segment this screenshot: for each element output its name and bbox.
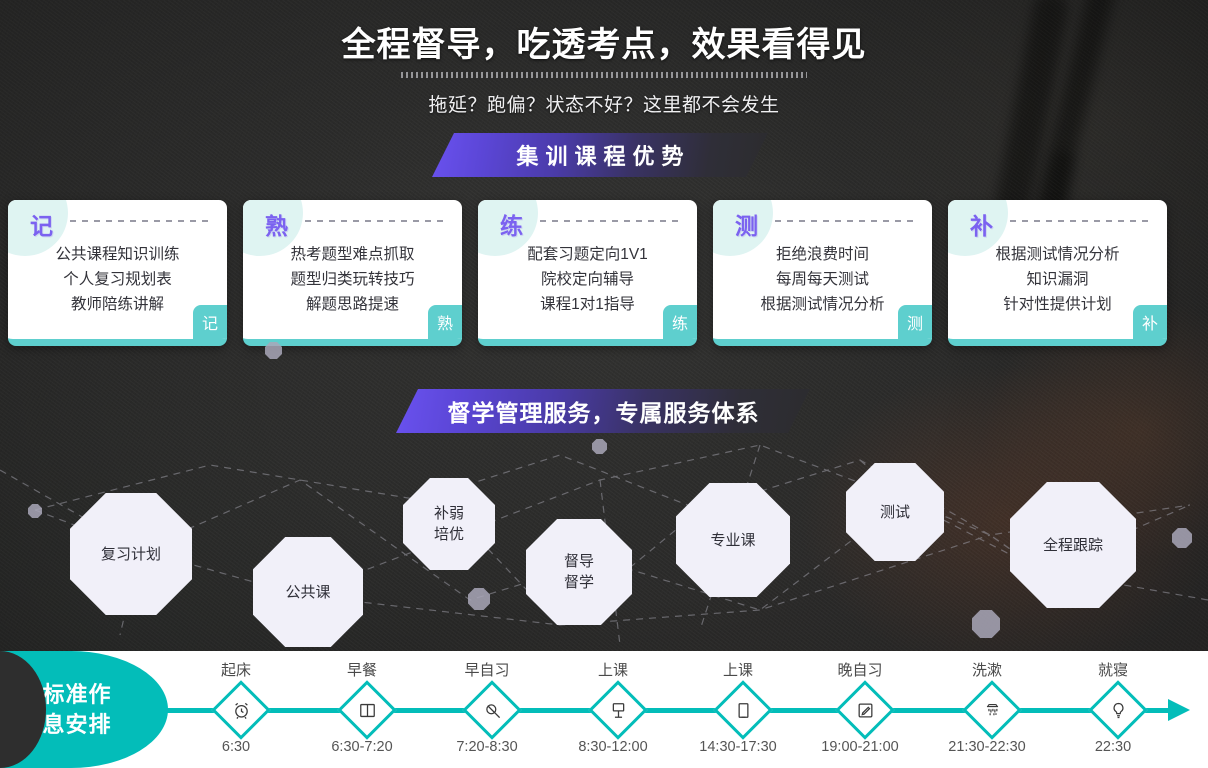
write-icon bbox=[844, 689, 886, 731]
timeline-item-time: 14:30-17:30 bbox=[668, 739, 808, 755]
network-node bbox=[265, 342, 282, 359]
service-octagon[interactable]: 公共课 bbox=[253, 537, 363, 647]
service-octagon-label: 公共课 bbox=[285, 582, 330, 603]
card-header: 测 bbox=[713, 200, 932, 240]
timeline-item-name: 早自习 bbox=[427, 659, 547, 680]
book-icon bbox=[346, 689, 388, 731]
service-octagon-label: 专业课 bbox=[710, 530, 755, 551]
timeline-item-time: 6:30 bbox=[166, 739, 306, 755]
card-body: 配套习题定向1V1院校定向辅导课程1对1指导 bbox=[478, 240, 697, 317]
advantage-card-list: 记公共课程知识训练个人复习规划表教师陪练讲解记熟热考题型难点抓取题型归类玩转技巧… bbox=[0, 200, 1208, 346]
card-body: 公共课程知识训练个人复习规划表教师陪练讲解 bbox=[8, 240, 227, 317]
card-dashed-divider bbox=[305, 220, 446, 222]
service-network-diagram: 复习计划公共课补弱培优督导督学专业课测试全程跟踪 bbox=[0, 440, 1208, 650]
card-dashed-divider bbox=[70, 220, 211, 222]
card-corner-badge: 熟 bbox=[428, 305, 462, 339]
lectern-icon bbox=[597, 689, 639, 731]
card-body: 热考题型难点抓取题型归类玩转技巧解题思路提速 bbox=[243, 240, 462, 317]
card-line: 知识漏洞 bbox=[948, 267, 1167, 292]
service-octagon-label: 全程跟踪 bbox=[1043, 535, 1103, 556]
timeline-item-time: 7:20-8:30 bbox=[417, 739, 557, 755]
timeline-item-time: 6:30-7:20 bbox=[292, 739, 432, 755]
card-body: 根据测试情况分析知识漏洞针对性提供计划 bbox=[948, 240, 1167, 317]
card-keyword: 测 bbox=[735, 207, 758, 241]
section-heading-services: 督学管理服务，专属服务体系 bbox=[396, 389, 810, 433]
network-node bbox=[468, 588, 490, 610]
service-octagon[interactable]: 全程跟踪 bbox=[1010, 482, 1136, 608]
card-line: 拒绝浪费时间 bbox=[713, 242, 932, 267]
card-line: 个人复习规划表 bbox=[8, 267, 227, 292]
card-header: 熟 bbox=[243, 200, 462, 240]
card-line: 热考题型难点抓取 bbox=[243, 242, 462, 267]
service-octagon[interactable]: 专业课 bbox=[676, 483, 790, 597]
timeline-label-line-1: 标准作 bbox=[42, 680, 111, 710]
advantage-card[interactable]: 熟热考题型难点抓取题型归类玩转技巧解题思路提速熟 bbox=[243, 200, 462, 346]
timeline-item-time: 22:30 bbox=[1043, 739, 1183, 755]
shower-icon bbox=[971, 689, 1013, 731]
timeline-label-line-2: 息安排 bbox=[42, 710, 111, 740]
card-header: 练 bbox=[478, 200, 697, 240]
service-octagon-label: 督导 bbox=[564, 551, 594, 572]
card-corner-badge: 补 bbox=[1133, 305, 1167, 339]
card-dashed-divider bbox=[540, 220, 681, 222]
timeline-item-name: 起床 bbox=[176, 659, 296, 680]
service-octagon-label: 培优 bbox=[434, 524, 464, 545]
card-corner-badge: 测 bbox=[898, 305, 932, 339]
card-line: 院校定向辅导 bbox=[478, 267, 697, 292]
service-octagon-label: 复习计划 bbox=[101, 544, 161, 565]
card-keyword: 记 bbox=[30, 207, 53, 241]
timeline-item-time: 8:30-12:00 bbox=[543, 739, 683, 755]
page-title: 全程督导，吃透考点，效果看得见 bbox=[0, 17, 1208, 66]
advantage-card[interactable]: 记公共课程知识训练个人复习规划表教师陪练讲解记 bbox=[8, 200, 227, 346]
card-header: 记 bbox=[8, 200, 227, 240]
notebook-icon bbox=[722, 689, 764, 731]
section-heading-advantages: 集训课程优势 bbox=[432, 133, 768, 177]
advantage-card[interactable]: 测拒绝浪费时间每周每天测试根据测试情况分析测 bbox=[713, 200, 932, 346]
timeline-item-name: 上课 bbox=[678, 659, 798, 680]
network-node bbox=[1172, 528, 1192, 548]
timeline-item-name: 早餐 bbox=[302, 659, 422, 680]
card-line: 根据测试情况分析 bbox=[948, 242, 1167, 267]
card-body: 拒绝浪费时间每周每天测试根据测试情况分析 bbox=[713, 240, 932, 317]
timeline-item-time: 19:00-21:00 bbox=[790, 739, 930, 755]
page-subtitle: 拖延？跑偏？状态不好？这里都不会发生 bbox=[0, 90, 1208, 117]
timeline-arrow-icon bbox=[1168, 699, 1190, 721]
card-keyword: 补 bbox=[970, 207, 993, 241]
card-line: 题型归类玩转技巧 bbox=[243, 267, 462, 292]
card-corner-badge: 练 bbox=[663, 305, 697, 339]
service-octagon-label: 督学 bbox=[564, 572, 594, 593]
advantage-card[interactable]: 练配套习题定向1V1院校定向辅导课程1对1指导练 bbox=[478, 200, 697, 346]
card-line: 配套习题定向1V1 bbox=[478, 242, 697, 267]
card-keyword: 练 bbox=[500, 207, 523, 241]
timeline-item-name: 上课 bbox=[553, 659, 673, 680]
service-octagon[interactable]: 测试 bbox=[846, 463, 944, 561]
card-dashed-divider bbox=[1010, 220, 1151, 222]
network-node bbox=[28, 504, 42, 518]
hero-section: 全程督导，吃透考点，效果看得见 拖延？跑偏？状态不好？这里都不会发生 bbox=[0, 0, 1208, 117]
card-keyword: 熟 bbox=[265, 207, 288, 241]
daily-schedule-timeline: 标准作 息安排 起床6:30早餐6:30-7:20早自习7:20-8:30上课8… bbox=[0, 651, 1208, 768]
service-octagon[interactable]: 督导督学 bbox=[526, 519, 632, 625]
network-node bbox=[592, 439, 607, 454]
lightbulb-icon bbox=[1097, 689, 1139, 731]
card-header: 补 bbox=[948, 200, 1167, 240]
alarm-clock-icon bbox=[220, 689, 262, 731]
title-underline-rule bbox=[401, 72, 807, 78]
network-node bbox=[972, 610, 1000, 638]
timeline-item-name: 洗漱 bbox=[927, 659, 1047, 680]
service-octagon-label: 补弱 bbox=[434, 503, 464, 524]
timeline-item-name: 晚自习 bbox=[800, 659, 920, 680]
advantage-card[interactable]: 补根据测试情况分析知识漏洞针对性提供计划补 bbox=[948, 200, 1167, 346]
service-octagon[interactable]: 复习计划 bbox=[70, 493, 192, 615]
card-line: 每周每天测试 bbox=[713, 267, 932, 292]
timeline-item-time: 21:30-22:30 bbox=[917, 739, 1057, 755]
service-octagon-label: 测试 bbox=[880, 502, 910, 523]
study-icon bbox=[471, 689, 513, 731]
timeline-item-name: 就寝 bbox=[1053, 659, 1173, 680]
service-octagon[interactable]: 补弱培优 bbox=[403, 478, 495, 570]
card-corner-badge: 记 bbox=[193, 305, 227, 339]
card-dashed-divider bbox=[775, 220, 916, 222]
card-line: 公共课程知识训练 bbox=[8, 242, 227, 267]
